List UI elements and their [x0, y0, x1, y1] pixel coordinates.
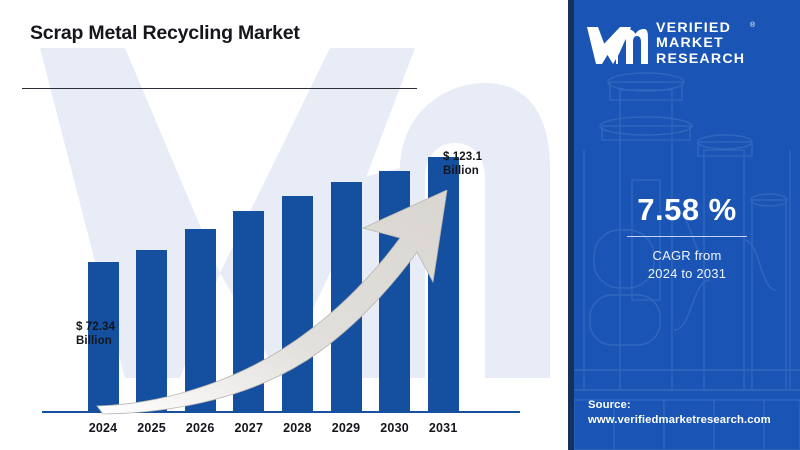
- growth-arrow-icon: [95, 190, 495, 415]
- x-tick-2027: 2027: [225, 421, 273, 435]
- cagr-caption-line1: CAGR from: [574, 247, 800, 265]
- cagr-caption-line2: 2024 to 2031: [574, 265, 800, 283]
- infographic-page: Scrap Metal Recycling Market 2024 2025 2…: [0, 0, 800, 450]
- end-value-unit: Billion: [443, 164, 482, 178]
- source-block: Source: www.verifiedmarketresearch.com: [588, 398, 800, 428]
- cagr-divider: [627, 236, 747, 237]
- x-tick-2029: 2029: [322, 421, 370, 435]
- x-tick-2031: 2031: [419, 421, 467, 435]
- vmr-logo-icon: [586, 24, 648, 64]
- brand-line-verified: VERIFIED: [656, 21, 745, 37]
- x-tick-2025: 2025: [128, 421, 176, 435]
- x-tick-2030: 2030: [371, 421, 419, 435]
- brand-wordmark: ® VERIFIED MARKET RESEARCH: [656, 21, 745, 68]
- source-url[interactable]: www.verifiedmarketresearch.com: [588, 413, 800, 428]
- registered-trademark-icon: ®: [750, 18, 755, 34]
- brand-line-market: MARKET: [656, 36, 745, 52]
- source-label: Source:: [588, 398, 800, 413]
- end-value-amount: $ 123.1: [443, 150, 482, 164]
- cagr-value: 7.58 %: [574, 192, 800, 228]
- bar-chart: 2024 2025 2026 2027 2028 2029 2030 2031 …: [0, 0, 568, 450]
- brand-panel: ® VERIFIED MARKET RESEARCH 7.58 % CAGR f…: [574, 0, 800, 450]
- x-tick-2024: 2024: [79, 421, 127, 435]
- brand-line-research: RESEARCH: [656, 52, 745, 68]
- brand-logo: ® VERIFIED MARKET RESEARCH: [586, 18, 792, 70]
- x-tick-2026: 2026: [176, 421, 224, 435]
- end-value-label: $ 123.1 Billion: [443, 150, 482, 178]
- x-tick-2028: 2028: [273, 421, 321, 435]
- cagr-caption: CAGR from 2024 to 2031: [574, 247, 800, 283]
- chart-panel: Scrap Metal Recycling Market 2024 2025 2…: [0, 0, 568, 450]
- cagr-block: 7.58 % CAGR from 2024 to 2031: [574, 192, 800, 283]
